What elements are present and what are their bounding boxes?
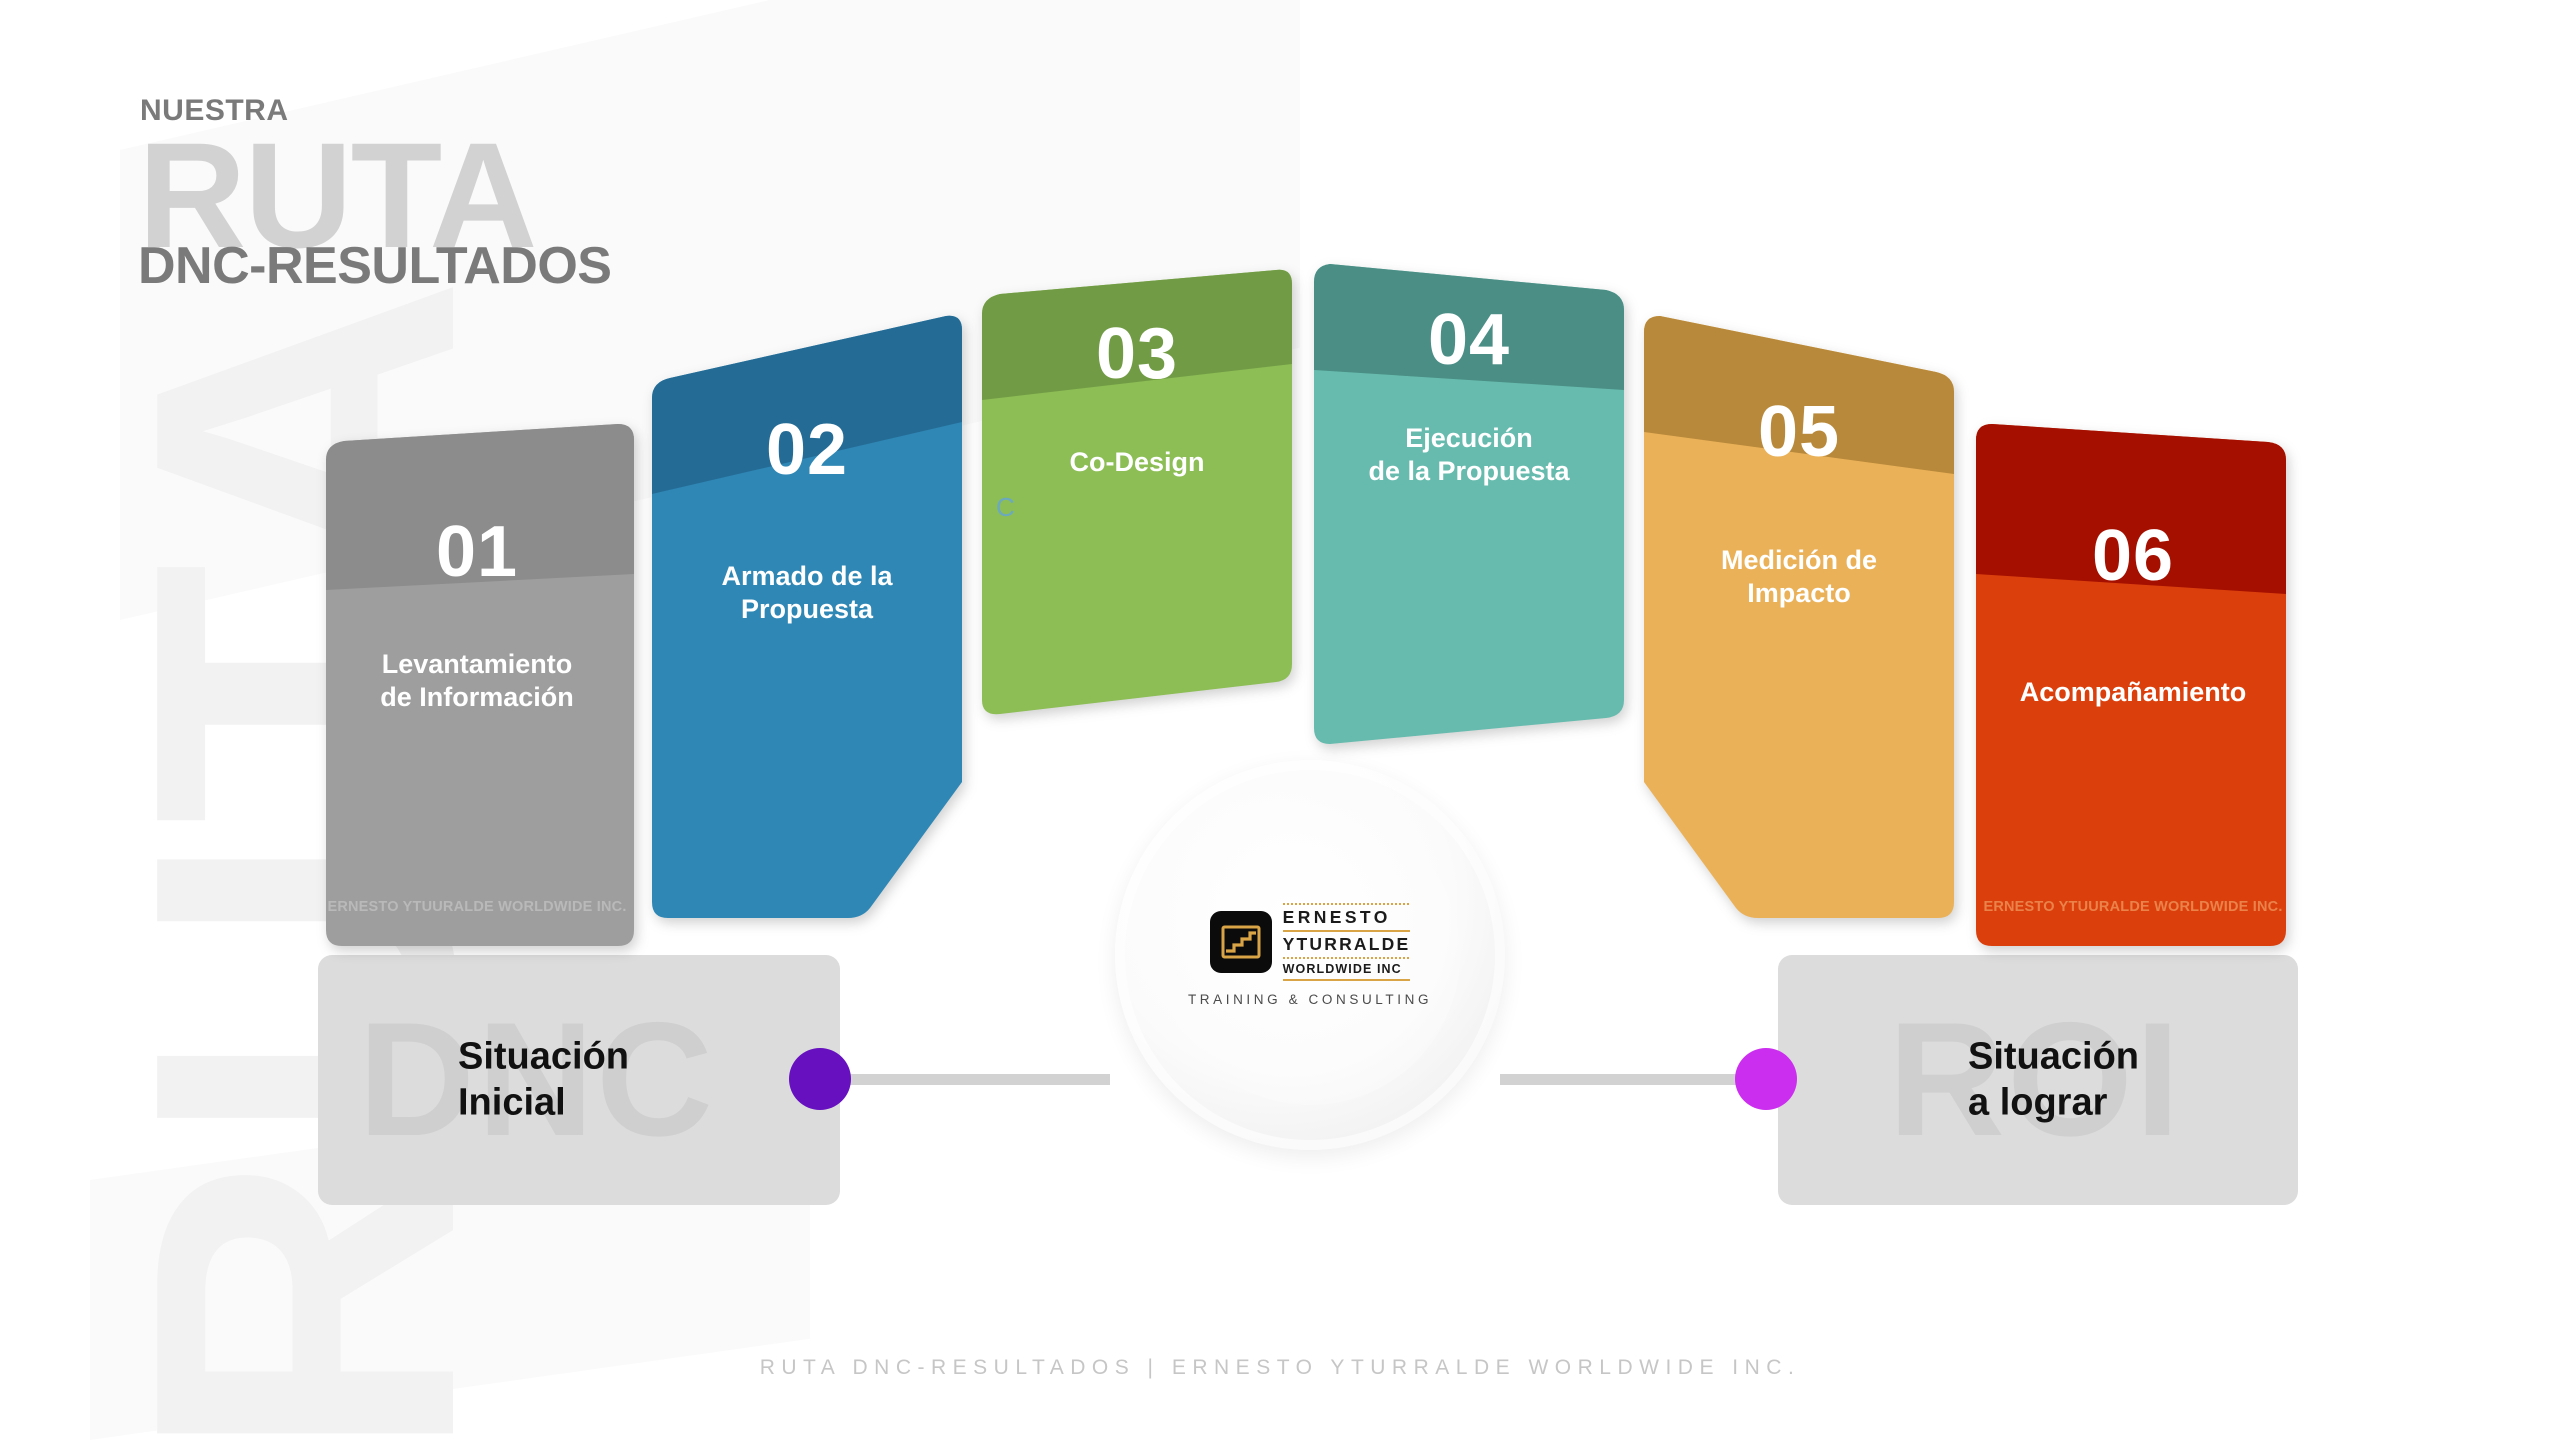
step-05-label: Medición de Impacto [1640, 544, 1958, 611]
step-04-number: 04 [1310, 304, 1628, 376]
step-card-06[interactable]: 06 Acompañamiento ERNESTO YTUURALDE WORL… [1974, 424, 2292, 948]
logo-wordmark: ERNESTO YTURRALDE WORLDWIDE INC [1283, 903, 1411, 981]
logo-rule-mid-1 [1283, 930, 1411, 932]
logo-tagline: TRAINING & CONSULTING [1188, 992, 1432, 1007]
step-02-label: Armado de la Propuesta [648, 560, 966, 627]
start-node-dot[interactable] [789, 1048, 851, 1110]
step-01-watermark: ERNESTO YTUURALDE WORLDWIDE INC. [318, 899, 636, 915]
logo-line-1: ERNESTO [1283, 907, 1411, 929]
title-subtitle: DNC-RESULTADOS [138, 240, 612, 292]
step-03-number: 03 [978, 318, 1296, 390]
step-02-number: 02 [648, 414, 966, 486]
footer-credit: RUTA DNC-RESULTADOS | ERNESTO YTURRALDE … [0, 1356, 2560, 1380]
step-card-01[interactable]: 01 Levantamiento de Información ERNESTO … [318, 424, 636, 948]
logo-rule-mid-2 [1283, 957, 1411, 959]
step-card-03[interactable]: 03 Co-Design C [978, 268, 1296, 738]
step-card-05[interactable]: 05 Medición de Impacto [1640, 316, 1958, 920]
step-04-label: Ejecución de la Propuesta [1310, 422, 1628, 489]
step-01-label: Levantamiento de Información [318, 648, 636, 715]
step-01-number: 01 [318, 516, 636, 588]
logo-rule-top [1283, 903, 1411, 905]
center-logo-badge[interactable]: ERNESTO YTURRALDE WORLDWIDE INC TRAINING… [1115, 760, 1505, 1150]
step-06-watermark: ERNESTO YTUURALDE WORLDWIDE INC. [1974, 899, 2292, 915]
step-06-number: 06 [1974, 520, 2292, 592]
logo-rule-bottom [1283, 979, 1411, 981]
chart-growth-icon [1210, 911, 1272, 973]
step-card-02[interactable]: 02 Armado de la Propuesta [648, 312, 966, 920]
end-node-dot[interactable] [1735, 1048, 1797, 1110]
step-03-sublabel: C [996, 494, 1015, 520]
step-card-04[interactable]: 04 Ejecución de la Propuesta [1310, 262, 1628, 746]
step-06-label: Acompañamiento [1974, 676, 2292, 709]
page-title-block: NUESTRA RUTA DNC-RESULTADOS [138, 96, 289, 128]
logo-line-3: WORLDWIDE INC [1283, 961, 1411, 977]
logo-lockup: ERNESTO YTURRALDE WORLDWIDE INC [1210, 903, 1411, 981]
logo-line-2: YTURRALDE [1283, 934, 1411, 956]
chart-growth-glyph [1221, 924, 1261, 960]
center-logo-inner: ERNESTO YTURRALDE WORLDWIDE INC TRAINING… [1160, 805, 1460, 1105]
infographic-canvas: RUTA NUESTRA RUTA DNC-RESULTADOS DNC Sit… [0, 0, 2560, 1440]
step-03-label: Co-Design [978, 446, 1296, 479]
step-05-number: 05 [1640, 396, 1958, 468]
